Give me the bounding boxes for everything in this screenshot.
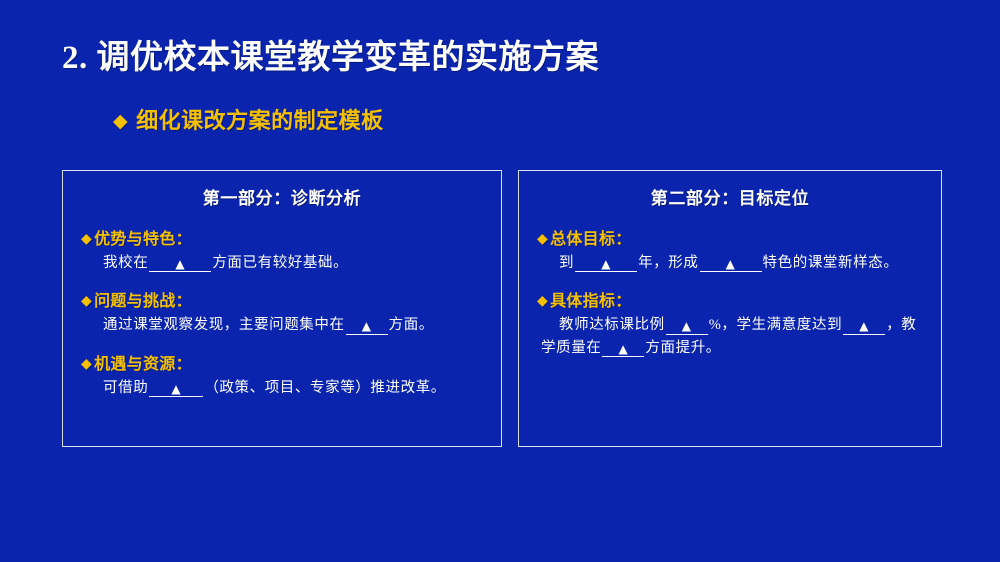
card-part-two-header: 第二部分：目标定位 [519, 184, 941, 209]
card-part-one-body: ◆优势与特色： 我校在▲方面已有较好基础。 ◆问题与挑战： 通过课堂观察发现，主… [63, 225, 501, 399]
text-fragment: 到 [559, 255, 574, 271]
fill-blank[interactable]: ▲ [602, 343, 644, 357]
text-fragment: 教师达标课比例 [559, 317, 665, 333]
text-fragment: %，学生满意度达到 [709, 317, 842, 333]
fill-blank[interactable]: ▲ [700, 258, 762, 272]
text-fragment: 方面。 [389, 317, 434, 333]
diamond-bullet-icon: ◆ [113, 110, 128, 133]
text-fragment: 方面提升。 [645, 340, 721, 356]
section-strengths-label: 优势与特色： [94, 231, 192, 248]
fill-blank[interactable]: ▲ [149, 383, 203, 397]
text-fragment: 我校在 [103, 255, 148, 271]
card-part-one-header: 第一部分：诊断分析 [63, 184, 501, 209]
diamond-bullet-icon: ◆ [81, 355, 92, 372]
section-overall-goal-heading: ◆总体目标： [537, 225, 927, 249]
section-overall-goal-text: 到▲年，形成▲特色的课堂新样态。 [537, 252, 927, 274]
section-challenges-label: 问题与挑战： [94, 293, 192, 310]
diamond-bullet-icon: ◆ [537, 292, 548, 309]
section-specific-indicators-label: 具体指标： [550, 293, 632, 310]
fill-blank[interactable]: ▲ [149, 258, 211, 272]
card-part-two-body: ◆总体目标： 到▲年，形成▲特色的课堂新样态。 ◆具体指标： 教师达标课比例▲%… [519, 225, 941, 359]
page-subtitle: ◆细化课改方案的制定模板 [113, 103, 384, 135]
section-opportunities-label: 机遇与资源： [94, 356, 192, 373]
page-subtitle-label: 细化课改方案的制定模板 [136, 108, 384, 133]
fill-blank[interactable]: ▲ [346, 320, 388, 334]
diamond-bullet-icon: ◆ [81, 230, 92, 247]
text-fragment: （政策、项目、专家等）推进改革。 [204, 380, 446, 396]
section-specific-indicators-text: 教师达标课比例▲%，学生满意度达到▲，教学质量在▲方面提升。 [537, 314, 927, 359]
diamond-bullet-icon: ◆ [81, 292, 92, 309]
card-part-two: 第二部分：目标定位 ◆总体目标： 到▲年，形成▲特色的课堂新样态。 ◆具体指标：… [518, 170, 942, 447]
section-overall-goal: ◆总体目标： 到▲年，形成▲特色的课堂新样态。 [537, 225, 927, 274]
text-fragment: 年，形成 [638, 255, 698, 271]
section-opportunities-text: 可借助▲（政策、项目、专家等）推进改革。 [81, 377, 487, 399]
fill-blank[interactable]: ▲ [575, 258, 637, 272]
text-fragment: 方面已有较好基础。 [212, 255, 348, 271]
section-opportunities-heading: ◆机遇与资源： [81, 350, 487, 374]
fill-blank[interactable]: ▲ [666, 320, 708, 334]
fill-blank[interactable]: ▲ [843, 320, 885, 334]
diamond-bullet-icon: ◆ [537, 230, 548, 247]
section-challenges-heading: ◆问题与挑战： [81, 287, 487, 311]
section-challenges-text: 通过课堂观察发现，主要问题集中在▲方面。 [81, 314, 487, 336]
section-specific-indicators: ◆具体指标： 教师达标课比例▲%，学生满意度达到▲，教学质量在▲方面提升。 [537, 287, 927, 359]
slide-canvas: 2. 调优校本课堂教学变革的实施方案 ◆细化课改方案的制定模板 第一部分：诊断分… [0, 0, 1000, 562]
section-specific-indicators-heading: ◆具体指标： [537, 287, 927, 311]
section-strengths-text: 我校在▲方面已有较好基础。 [81, 252, 487, 274]
text-fragment: 通过课堂观察发现，主要问题集中在 [103, 317, 345, 333]
text-fragment: 特色的课堂新样态。 [763, 255, 899, 271]
section-overall-goal-label: 总体目标： [550, 231, 632, 248]
card-part-one: 第一部分：诊断分析 ◆优势与特色： 我校在▲方面已有较好基础。 ◆问题与挑战： … [62, 170, 502, 447]
page-title: 2. 调优校本课堂教学变革的实施方案 [62, 38, 599, 79]
text-fragment: 可借助 [103, 380, 148, 396]
section-strengths-heading: ◆优势与特色： [81, 225, 487, 249]
section-opportunities: ◆机遇与资源： 可借助▲（政策、项目、专家等）推进改革。 [81, 350, 487, 399]
section-challenges: ◆问题与挑战： 通过课堂观察发现，主要问题集中在▲方面。 [81, 287, 487, 336]
section-strengths: ◆优势与特色： 我校在▲方面已有较好基础。 [81, 225, 487, 274]
